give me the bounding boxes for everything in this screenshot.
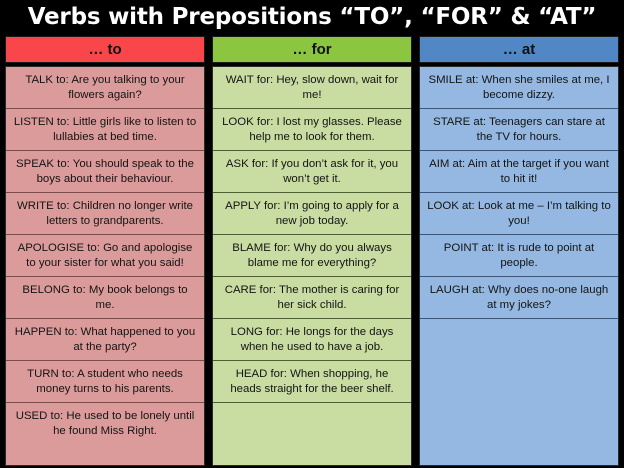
column-for: … for WAIT for: Hey, slow down, wait for… bbox=[212, 36, 412, 466]
list-item: LONG for: He longs for the days when he … bbox=[213, 319, 411, 361]
list-item: LISTEN to: Little girls like to listen t… bbox=[6, 109, 204, 151]
column-header-to: … to bbox=[5, 36, 205, 63]
list-item: HAPPEN to: What happened to you at the p… bbox=[6, 319, 204, 361]
list-item: WAIT for: Hey, slow down, wait for me! bbox=[213, 67, 411, 109]
list-item: LOOK for: I lost my glasses. Please help… bbox=[213, 109, 411, 151]
list-item: SPEAK to: You should speak to the boys a… bbox=[6, 151, 204, 193]
list-item: BLAME for: Why do you always blame me fo… bbox=[213, 235, 411, 277]
preposition-columns: … to TALK to: Are you talking to your fl… bbox=[0, 36, 624, 466]
list-item: LOOK at: Look at me – I’m talking to you… bbox=[420, 193, 618, 235]
list-item: POINT at: It is rude to point at people. bbox=[420, 235, 618, 277]
column-header-at: … at bbox=[419, 36, 619, 63]
list-item: LAUGH at: Why does no-one laugh at my jo… bbox=[420, 277, 618, 319]
list-item: SMILE at: When she smiles at me, I becom… bbox=[420, 67, 618, 109]
list-item: ASK for: If you don’t ask for it, you wo… bbox=[213, 151, 411, 193]
infographic-page: Verbs with Prepositions “TO”, “FOR” & “A… bbox=[0, 0, 624, 468]
empty-cell bbox=[213, 403, 411, 465]
list-item: HEAD for: When shopping, he heads straig… bbox=[213, 361, 411, 403]
cell-list-for: WAIT for: Hey, slow down, wait for me! L… bbox=[212, 66, 412, 466]
list-item: USED to: He used to be lonely until he f… bbox=[6, 403, 204, 445]
list-item: AIM at: Aim at the target if you want to… bbox=[420, 151, 618, 193]
list-item: APPLY for: I’m going to apply for a new … bbox=[213, 193, 411, 235]
empty-cell bbox=[420, 319, 618, 465]
list-item: CARE for: The mother is caring for her s… bbox=[213, 277, 411, 319]
list-item: TALK to: Are you talking to your flowers… bbox=[6, 67, 204, 109]
cell-list-to: TALK to: Are you talking to your flowers… bbox=[5, 66, 205, 466]
list-item: APOLOGISE to: Go and apologise to your s… bbox=[6, 235, 204, 277]
list-item: STARE at: Teenagers can stare at the TV … bbox=[420, 109, 618, 151]
list-item: BELONG to: My book belongs to me. bbox=[6, 277, 204, 319]
list-item: WRITE to: Children no longer write lette… bbox=[6, 193, 204, 235]
page-title: Verbs with Prepositions “TO”, “FOR” & “A… bbox=[0, 0, 624, 36]
column-header-for: … for bbox=[212, 36, 412, 63]
cell-list-at: SMILE at: When she smiles at me, I becom… bbox=[419, 66, 619, 466]
list-item: TURN to: A student who needs money turns… bbox=[6, 361, 204, 403]
column-to: … to TALK to: Are you talking to your fl… bbox=[5, 36, 205, 466]
column-at: … at SMILE at: When she smiles at me, I … bbox=[419, 36, 619, 466]
